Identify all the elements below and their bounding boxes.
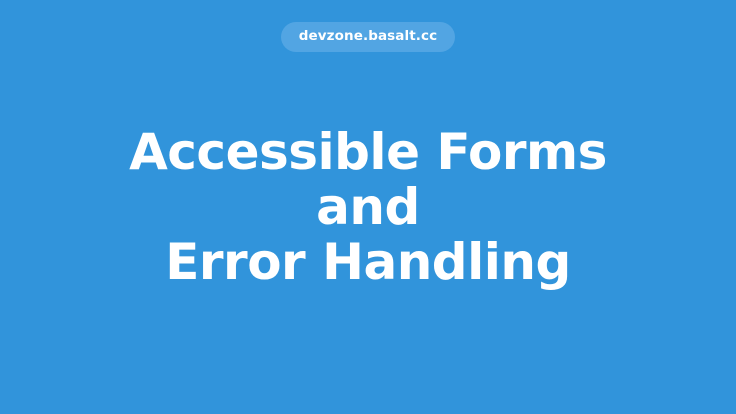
page-title-line-1: Accessible Forms and xyxy=(98,125,638,235)
page-title-line-2: Error Handling xyxy=(98,235,638,290)
title-slide: devzone.basalt.cc Accessible Forms and E… xyxy=(0,0,736,414)
page-title: Accessible Forms and Error Handling xyxy=(98,125,638,290)
hero-section: Accessible Forms and Error Handling xyxy=(0,0,736,414)
